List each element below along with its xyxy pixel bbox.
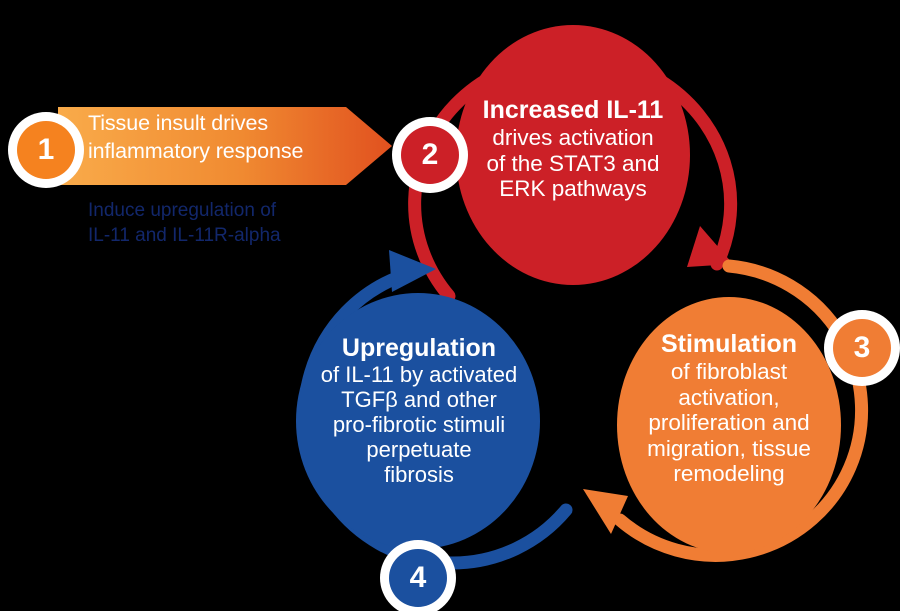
step-4-circle[interactable] <box>296 293 540 549</box>
step-3-circle[interactable] <box>617 297 841 553</box>
diagram-graphics <box>0 0 900 611</box>
badge-1[interactable] <box>8 112 84 188</box>
step-2-circle[interactable] <box>456 25 690 285</box>
badge-2[interactable] <box>392 117 468 193</box>
step-1-banner[interactable] <box>58 107 392 185</box>
badge-3[interactable] <box>824 310 900 386</box>
diagram-canvas: Tissue insult drives inflammatory respon… <box>0 0 900 611</box>
